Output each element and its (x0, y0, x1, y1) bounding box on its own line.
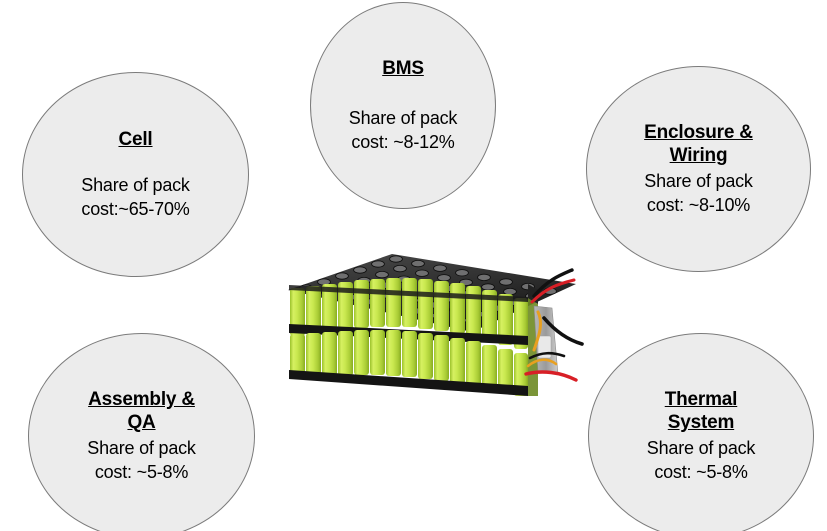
bubble-thermal-system-body: Share of pack cost: ~5-8% (647, 436, 755, 484)
bubble-enclosure-wiring[interactable]: Enclosure & Wiring Share of pack cost: ~… (586, 66, 811, 272)
bubble-cell[interactable]: Cell Share of pack cost:~65-70% (22, 72, 249, 277)
bubble-assembly-qa[interactable]: Assembly & QA Share of pack cost: ~5-8% (28, 333, 255, 531)
bubble-thermal-system[interactable]: Thermal System Share of pack cost: ~5-8% (588, 333, 814, 531)
bubble-bms-body: Share of pack cost: ~8-12% (349, 106, 457, 154)
battery-pack-photo (276, 246, 586, 396)
bubble-cell-title: Cell (118, 128, 152, 151)
bubble-bms-title: BMS (382, 57, 424, 80)
bubble-cell-body: Share of pack cost:~65-70% (81, 173, 189, 221)
diagram-canvas: Cell Share of pack cost:~65-70% BMS Shar… (0, 0, 827, 531)
bubble-assembly-qa-title: Assembly & QA (88, 388, 195, 434)
bubble-enclosure-wiring-title: Enclosure & Wiring (644, 121, 753, 167)
bubble-assembly-qa-body: Share of pack cost: ~5-8% (87, 436, 195, 484)
bubble-enclosure-wiring-body: Share of pack cost: ~8-10% (644, 169, 752, 217)
bubble-bms[interactable]: BMS Share of pack cost: ~8-12% (310, 2, 496, 209)
bubble-thermal-system-title: Thermal System (665, 388, 738, 434)
